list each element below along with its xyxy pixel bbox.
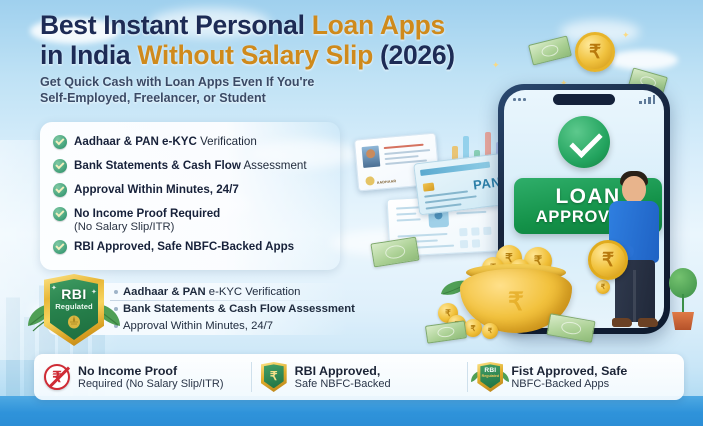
trust-badge-no-income-proof[interactable]: ₹ No Income Proof Required (No Salary Sl… [34, 354, 251, 400]
aadhaar-card-label: AADHAAR [377, 179, 397, 185]
rbi-shield-icon: ₹ [261, 362, 287, 392]
headline-line-1: Best Instant Personal Loan Apps [40, 10, 540, 40]
pan-chip-icon [423, 182, 435, 191]
trust-badge-row: ₹ No Income Proof Required (No Salary Sl… [34, 354, 684, 400]
headline-line-2-plain: in India [40, 40, 137, 70]
subtitle-block: Get Quick Cash with Loan Apps Even If Yo… [40, 75, 540, 106]
checklist-item-text: RBI Approved, Safe NBFC-Backed Apps [74, 236, 294, 254]
plant-pot [672, 312, 694, 330]
checklist-item-text: No Income Proof Required (No Salary Slip… [74, 203, 220, 234]
no-rupee-icon: ₹ [44, 364, 70, 390]
man-shoe [638, 318, 658, 327]
trust-badge-rbi-approved[interactable]: ₹ RBI Approved, Safe NBFC-Backed [251, 354, 468, 400]
subtitle-line-2: Self-Employed, Freelancer, or Student [40, 91, 540, 107]
signal-bars-icon [639, 95, 655, 104]
checklist-item-bold: Approval Within Minutes, 24/7 [74, 183, 239, 196]
plant-stem [682, 294, 684, 312]
trust-badge-text: Fist Approved, Safe NBFC-Backed Apps [511, 364, 627, 391]
secondary-panel-row-text: Approval Within Minutes, 24/7 [123, 320, 273, 332]
pan-card: PAN [413, 153, 511, 216]
rbi-badge-title: RBI [61, 287, 87, 301]
floating-rupee-coin-icon: ₹ [575, 32, 615, 72]
checklist-item: Approval Within Minutes, 24/7 [40, 179, 340, 203]
aadhaar-photo [362, 146, 381, 168]
poster-canvas: ₹ ✦ ✦ ✦ Best Instant Personal Loan Apps … [0, 0, 703, 426]
trust-badge-text: No Income Proof Required (No Salary Slip… [78, 364, 224, 391]
checklist-item-bold: Aadhaar & PAN e-KYC [74, 135, 197, 148]
checklist-item: Aadhaar & PAN e-KYC Verification [40, 131, 340, 155]
check-circle-icon [53, 207, 67, 221]
man-head [622, 176, 646, 203]
bag-rupee-symbol: ₹ [452, 287, 580, 317]
secondary-panel-row-text: Aadhaar & PAN e-KYC Verification [123, 286, 300, 298]
checklist-item-text: Approval Within Minutes, 24/7 [74, 179, 239, 197]
aadhaar-emblem [365, 176, 375, 186]
secondary-row-bold: Bank Statements & Cash Flow Assessment [123, 303, 355, 315]
phone-notch [553, 94, 615, 105]
sparkle-icon: ✦ [91, 288, 97, 296]
checklist-item-bold: Bank Statements & Cash Flow [74, 159, 241, 172]
businessman-illustration: ₹ [600, 168, 672, 334]
rbi-laurel-shield-icon: RBI Regulated [477, 362, 503, 392]
features-checklist-card: Aadhaar & PAN e-KYC Verification Bank St… [40, 122, 340, 270]
checklist-item-text: Aadhaar & PAN e-KYC Verification [74, 131, 257, 149]
check-circle-icon [53, 240, 67, 254]
secondary-panel-row-text: Bank Statements & Cash Flow Assessment [123, 303, 355, 315]
trust-badge-line-2: Safe NBFC-Backed [295, 378, 391, 391]
check-circle-icon [53, 135, 67, 149]
checklist-item-subtext: (No Salary Slip/ITR) [74, 221, 220, 234]
checklist-item-bold: No Income Proof Required [74, 207, 220, 220]
secondary-row-bold: Aadhaar & PAN [123, 286, 209, 298]
trust-badge-line-2: NBFC-Backed Apps [511, 378, 627, 391]
headline-line-2: in India Without Salary Slip (2026) [40, 40, 540, 70]
rbi-badge-subtitle: Regulated [55, 302, 93, 311]
checklist-item: Bank Statements & Cash Flow Assessment [40, 155, 340, 179]
trust-badge-line-1: RBI Approved, [295, 364, 391, 378]
secondary-row-bold: Approval Within Minutes, 24/7 [123, 320, 273, 332]
rbi-regulated-badge: RBI Regulated ✦ ✦ [35, 274, 113, 352]
check-circle-icon [53, 159, 67, 173]
headline-line-2-accent: Without Salary Slip [137, 40, 373, 70]
headline-block: Best Instant Personal Loan Apps in India… [40, 10, 540, 106]
trust-badge-line-1: Fist Approved, Safe [511, 364, 627, 378]
coin-icon: ₹ [464, 319, 482, 337]
sparkle-icon: ✦ [51, 284, 57, 292]
bottom-color-band [0, 396, 703, 426]
green-check-icon [558, 116, 610, 168]
rbi-emblem-icon [67, 314, 81, 329]
checklist-item: No Income Proof Required (No Salary Slip… [40, 203, 340, 236]
cloud-shape [608, 50, 678, 70]
secondary-row-rest: e-KYC Verification [209, 286, 301, 298]
checklist-item-text: Bank Statements & Cash Flow Assessment [74, 155, 307, 173]
coin-icon: ₹ [482, 323, 498, 339]
bullet-dot-icon [114, 290, 118, 294]
headline-line-1-plain: Best Instant Personal [40, 10, 312, 40]
headline-line-1-accent: Loan Apps [312, 10, 445, 40]
money-bag-illustration: ₹ ₹ ₹ ₹ ₹ ₹ ₹ ₹ ₹ [452, 243, 580, 335]
check-circle-icon [53, 183, 67, 197]
checklist-item-rest: Assessment [241, 159, 307, 172]
held-rupee-coin-icon: ₹ [588, 240, 628, 280]
checklist-item-bold: RBI Approved, Safe NBFC-Backed Apps [74, 240, 294, 253]
subtitle-line-1: Get Quick Cash with Loan Apps Even If Yo… [40, 75, 540, 91]
shield-label-secondary: Regulated [482, 375, 499, 379]
pan-header-bar [420, 161, 490, 175]
trust-badge-fist-approved[interactable]: RBI Regulated Fist Approved, Safe NBFC-B… [467, 354, 684, 400]
trust-badge-line-2: Required (No Salary Slip/ITR) [78, 378, 224, 391]
man-shoe [612, 318, 632, 327]
secondary-panel-divider [110, 300, 348, 301]
trust-badge-text: RBI Approved, Safe NBFC-Backed [295, 364, 391, 391]
checklist-item-rest: Verification [197, 135, 257, 148]
trust-badge-line-1: No Income Proof [78, 364, 224, 378]
headline-year: (2026) [373, 40, 455, 70]
sparkle-icon: ✦ [622, 30, 630, 41]
checklist-item: RBI Approved, Safe NBFC-Backed Apps [40, 236, 340, 260]
